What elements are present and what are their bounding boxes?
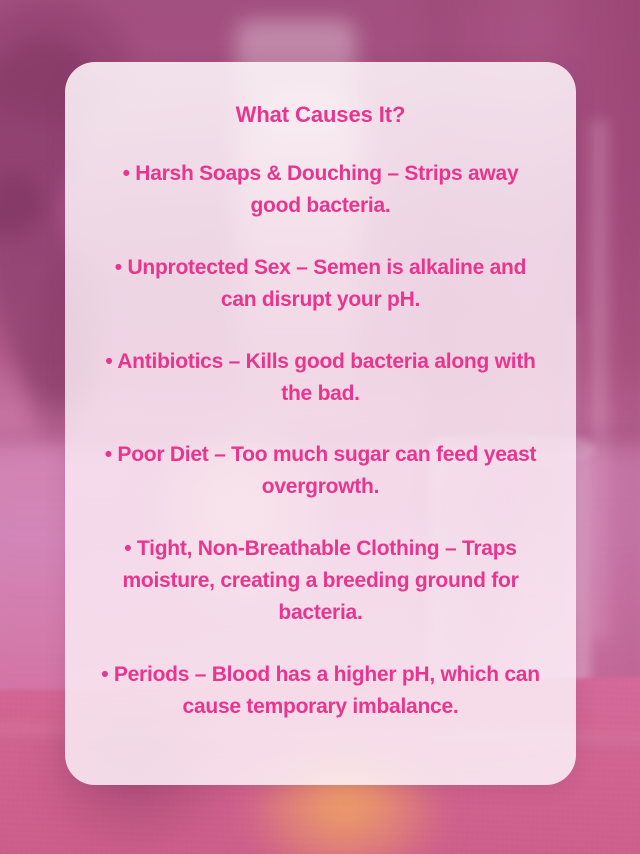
list-item: • Poor Diet – Too much sugar can feed ye…: [93, 439, 548, 503]
list-item: • Unprotected Sex – Semen is alkaline an…: [93, 252, 548, 316]
list-item: • Tight, Non-Breathable Clothing – Traps…: [93, 533, 548, 629]
list-item: • Antibiotics – Kills good bacteria alon…: [93, 346, 548, 410]
content-card: What Causes It? • Harsh Soaps & Douching…: [65, 62, 576, 785]
list-item: • Periods – Blood has a higher pH, which…: [93, 659, 548, 723]
list-item: • Harsh Soaps & Douching – Strips away g…: [93, 158, 548, 222]
causes-list: • Harsh Soaps & Douching – Strips away g…: [93, 158, 548, 723]
card-title: What Causes It?: [236, 102, 406, 128]
